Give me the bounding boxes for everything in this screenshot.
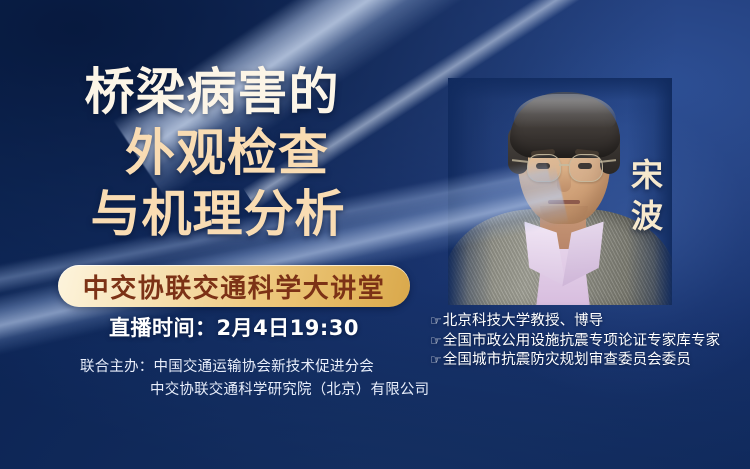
- credential-text-3: 全国城市抗震防灾规划审查委员会委员: [443, 351, 691, 371]
- portrait-mouth: [548, 200, 580, 204]
- series-badge-label: 中交协联交通科学大讲堂: [83, 268, 386, 305]
- speaker-name: 宋 波: [629, 155, 665, 237]
- speaker-name-char-2: 波: [629, 196, 665, 237]
- pointing-hand-icon: ☞: [430, 351, 442, 371]
- glasses-lens-left-icon: [527, 154, 561, 182]
- organizers: 联合主办：中国交通运输协会新技术促进分会 中交协联交通科学研究院（北京）有限公司: [58, 356, 438, 402]
- organizer-line-2: 中交协联交通科学研究院（北京）有限公司: [58, 379, 438, 402]
- live-time: 直播时间：2月4日19:30: [58, 312, 410, 342]
- title-line-1: 桥梁病害的: [0, 62, 430, 123]
- poster-title: 桥梁病害的 外观检查 与机理分析: [0, 62, 430, 245]
- title-line-2: 外观检查: [24, 123, 430, 184]
- pointing-hand-icon: ☞: [430, 332, 442, 352]
- glasses-lens-right-icon: [569, 154, 603, 182]
- credential-text-2: 全国市政公用设施抗震专项论证专家库专家: [443, 332, 720, 352]
- credential-text-1: 北京科技大学教授、博导: [443, 312, 604, 332]
- title-line-3: 与机理分析: [6, 184, 430, 245]
- speaker-credentials: ☞ 北京科技大学教授、博导 ☞ 全国市政公用设施抗震专项论证专家库专家 ☞ 全国…: [430, 312, 748, 371]
- webinar-poster: 桥梁病害的 外观检查 与机理分析 中交协联交通科学大讲堂 直播时间：2月4日19…: [0, 0, 750, 469]
- credential-row-3: ☞ 全国城市抗震防灾规划审查委员会委员: [430, 351, 748, 371]
- credential-row-1: ☞ 北京科技大学教授、博导: [430, 312, 748, 332]
- pointing-hand-icon: ☞: [430, 312, 442, 332]
- speaker-name-char-1: 宋: [629, 155, 665, 196]
- organizer-line-1: 联合主办：中国交通运输协会新技术促进分会: [58, 356, 438, 379]
- credential-row-2: ☞ 全国市政公用设施抗震专项论证专家库专家: [430, 332, 748, 352]
- glasses-bridge-icon: [559, 164, 569, 166]
- series-badge: 中交协联交通科学大讲堂: [58, 265, 410, 307]
- portrait-hair-highlight: [514, 94, 616, 128]
